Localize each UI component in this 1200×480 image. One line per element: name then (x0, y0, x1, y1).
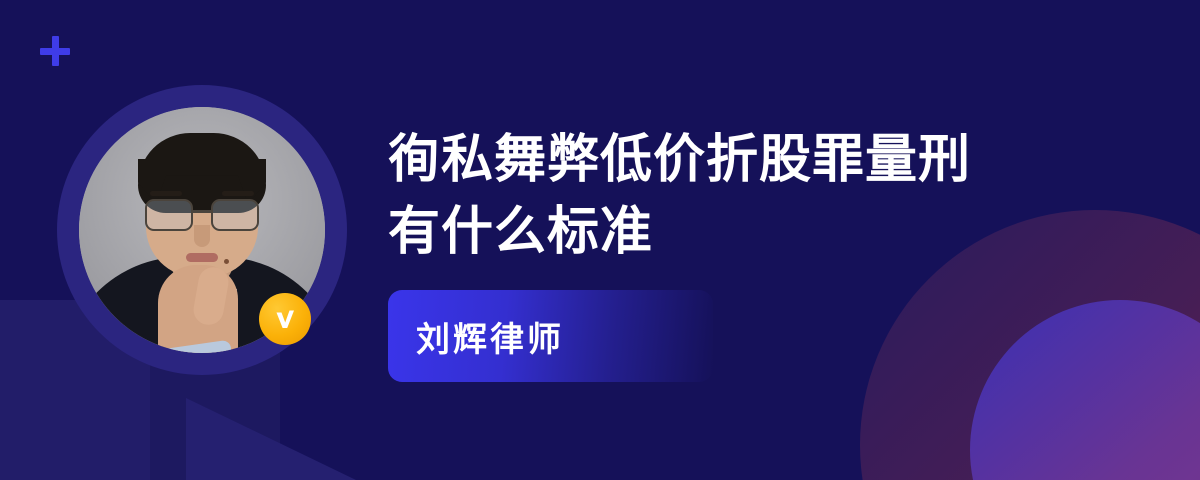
plus-icon (40, 36, 70, 66)
verified-badge-icon (259, 293, 311, 345)
lawyer-banner: 徇私舞弊低价折股罪量刑 有什么标准 刘辉律师 (0, 0, 1200, 480)
lawyer-name-button[interactable]: 刘辉律师 (388, 290, 713, 382)
content-block: 徇私舞弊低价折股罪量刑 有什么标准 刘辉律师 (388, 124, 1148, 382)
page-title: 徇私舞弊低价折股罪量刑 有什么标准 (388, 124, 1148, 268)
